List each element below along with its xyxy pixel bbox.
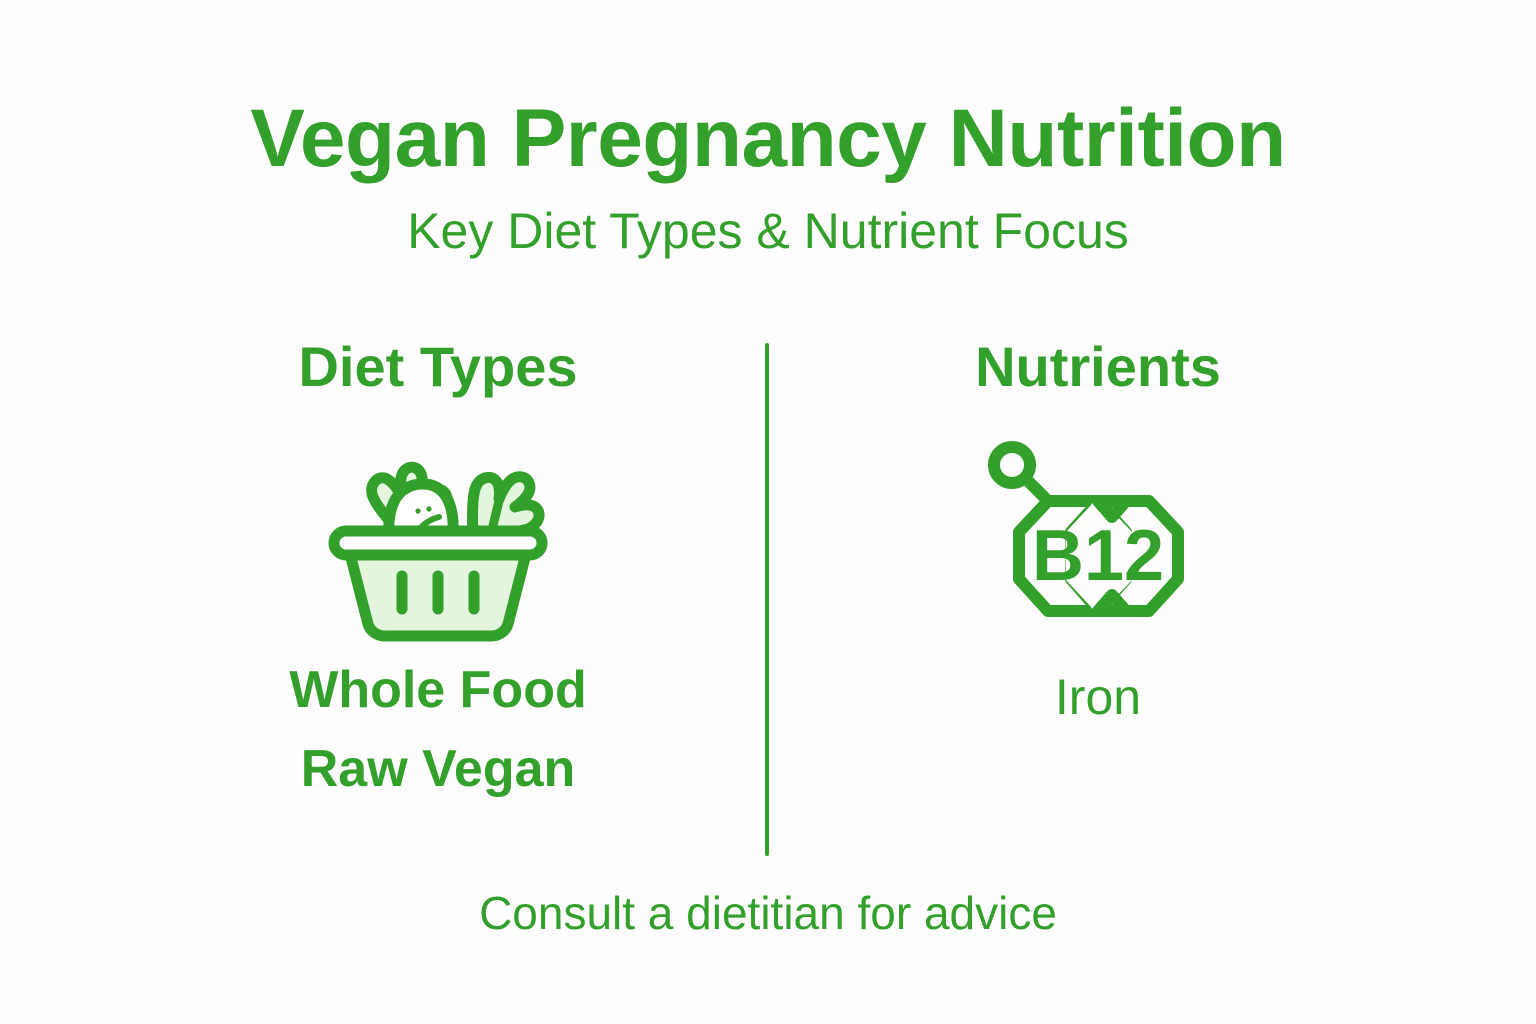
b12-icon-text: B12 <box>1031 516 1163 596</box>
infographic-canvas: Vegan Pregnancy Nutrition Key Diet Types… <box>0 0 1536 1024</box>
header: Vegan Pregnancy Nutrition Key Diet Types… <box>0 96 1536 259</box>
column-heading-nutrients: Nutrients <box>748 336 1448 398</box>
columns-section: Diet Types <box>0 336 1536 866</box>
footer: Consult a dietitian for advice <box>0 886 1536 940</box>
column-nutrients: Nutrients <box>748 336 1448 728</box>
footer-note: Consult a dietitian for advice <box>0 886 1536 940</box>
page-title: Vegan Pregnancy Nutrition <box>0 96 1536 182</box>
column-label-nutrients-line1: Iron <box>748 666 1448 729</box>
column-label-diet-types-line1: Whole Food <box>88 658 788 723</box>
column-heading-diet-types: Diet Types <box>88 336 788 398</box>
page-subtitle: Key Diet Types & Nutrient Focus <box>0 204 1536 259</box>
vitamin-b12-molecule-icon: B12 <box>748 434 1448 644</box>
column-diet-types: Diet Types <box>88 336 788 802</box>
column-label-diet-types-line2: Raw Vegan <box>88 737 788 802</box>
grocery-basket-vegetables-icon <box>88 434 788 644</box>
